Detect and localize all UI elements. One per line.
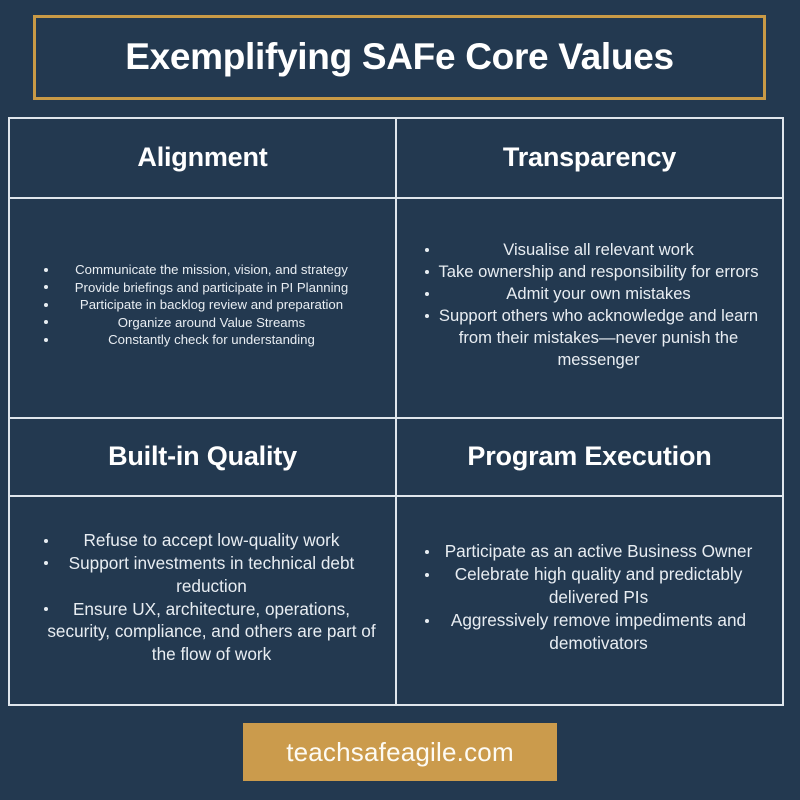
slide-canvas: Exemplifying SAFe Core Values Alignment … — [0, 0, 800, 800]
quadrant-built-in-quality: Built-in Quality Refuse to accept low-qu… — [10, 419, 397, 706]
quadrant-title: Built-in Quality — [108, 441, 297, 472]
list-item: Support others who acknowledge and learn… — [411, 305, 768, 371]
quadrant-title: Program Execution — [467, 441, 711, 472]
bullet-list-built-in-quality: Refuse to accept low-quality work Suppor… — [24, 529, 381, 666]
bullet-list-alignment: Communicate the mission, vision, and str… — [24, 261, 381, 349]
slide-title-box: Exemplifying SAFe Core Values — [33, 15, 766, 100]
bullet-list-transparency: Visualise all relevant work Take ownersh… — [411, 239, 768, 371]
list-item: Aggressively remove impediments and demo… — [411, 609, 768, 655]
list-item: Provide briefings and participate in PI … — [24, 279, 381, 297]
list-item: Celebrate high quality and predictably d… — [411, 563, 768, 609]
footer-website-banner: teachsafeagile.com — [243, 723, 557, 781]
list-item: Communicate the mission, vision, and str… — [24, 261, 381, 279]
list-item: Admit your own mistakes — [411, 283, 768, 305]
website-url: teachsafeagile.com — [286, 737, 514, 768]
list-item: Refuse to accept low-quality work — [24, 529, 381, 552]
list-item: Take ownership and responsibility for er… — [411, 261, 768, 283]
list-item: Constantly check for understanding — [24, 331, 381, 349]
quadrant-alignment: Alignment Communicate the mission, visio… — [10, 119, 397, 419]
core-values-grid: Alignment Communicate the mission, visio… — [8, 117, 784, 706]
quadrant-body-transparency: Visualise all relevant work Take ownersh… — [397, 199, 782, 417]
list-item: Ensure UX, architecture, operations, sec… — [24, 598, 381, 667]
quadrant-transparency: Transparency Visualise all relevant work… — [397, 119, 784, 419]
list-item: Visualise all relevant work — [411, 239, 768, 261]
page-title: Exemplifying SAFe Core Values — [125, 37, 674, 78]
quadrant-body-program-execution: Participate as an active Business Owner … — [397, 497, 782, 704]
list-item: Support investments in technical debt re… — [24, 552, 381, 598]
quadrant-header-transparency: Transparency — [397, 119, 782, 199]
list-item: Organize around Value Streams — [24, 314, 381, 332]
quadrant-title: Transparency — [503, 142, 676, 173]
quadrant-header-program-execution: Program Execution — [397, 419, 782, 497]
quadrant-body-built-in-quality: Refuse to accept low-quality work Suppor… — [10, 497, 395, 704]
quadrant-title: Alignment — [137, 142, 267, 173]
list-item: Participate as an active Business Owner — [411, 540, 768, 563]
quadrant-body-alignment: Communicate the mission, vision, and str… — [10, 199, 395, 417]
bullet-list-program-execution: Participate as an active Business Owner … — [411, 540, 768, 654]
quadrant-program-execution: Program Execution Participate as an acti… — [397, 419, 784, 706]
list-item: Participate in backlog review and prepar… — [24, 296, 381, 314]
quadrant-header-alignment: Alignment — [10, 119, 395, 199]
quadrant-header-built-in-quality: Built-in Quality — [10, 419, 395, 497]
